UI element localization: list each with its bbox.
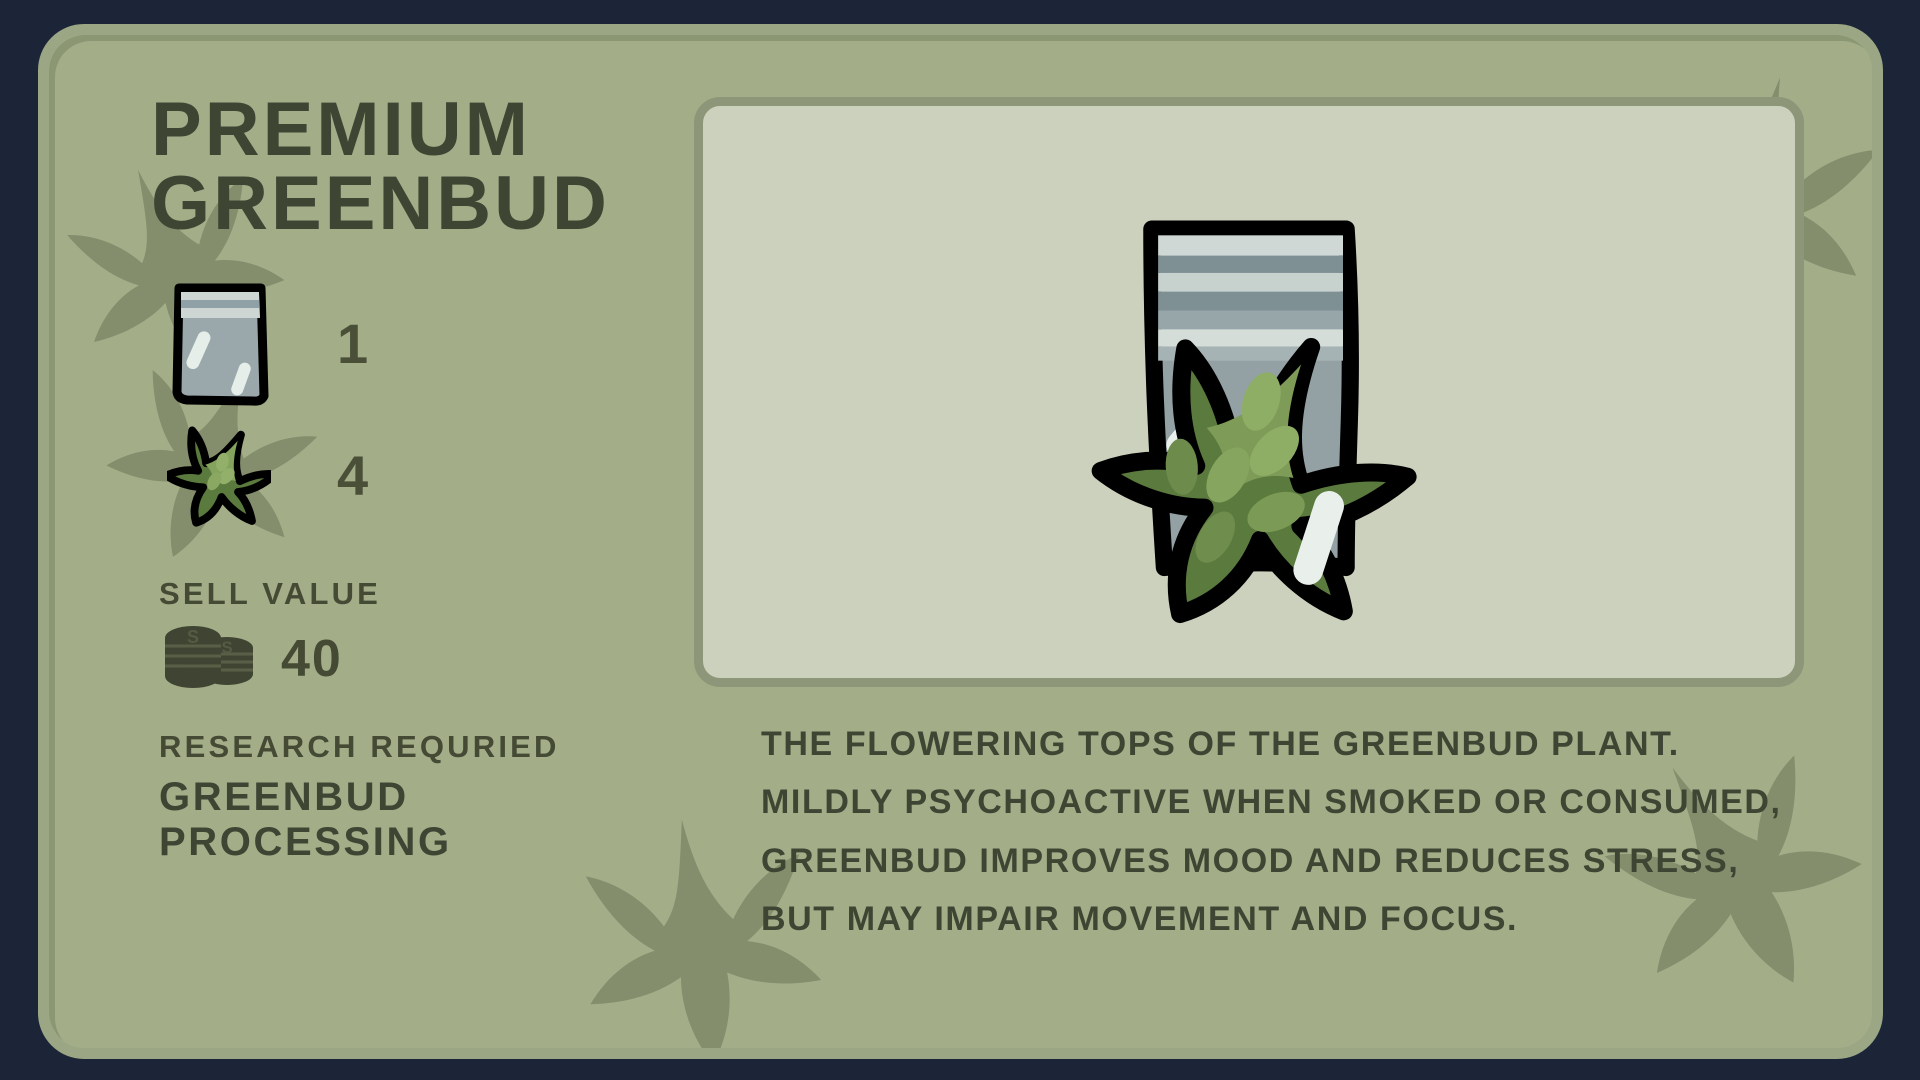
- quantity-list: 1 4: [159, 278, 711, 542]
- sell-value-label: SELL VALUE: [159, 576, 711, 612]
- sell-value-row: S S 40: [159, 620, 711, 699]
- coin-stack-icon: S S: [159, 620, 267, 699]
- svg-text:S: S: [221, 638, 232, 657]
- quantity-value: 4: [337, 443, 370, 508]
- sell-value-block: SELL VALUE S: [159, 576, 711, 699]
- item-description: THE FLOWERING TOPS OF THE GREENBUD PLANT…: [761, 715, 1883, 949]
- quantity-row-bud: 4: [159, 410, 711, 542]
- bud-icon: [159, 424, 279, 528]
- left-info-column: PREMIUM GREENBUD 1: [111, 83, 711, 1043]
- item-image-panel: [694, 97, 1804, 687]
- research-required-name: GREENBUD PROCESSING: [159, 775, 711, 865]
- baggie-icon: [159, 278, 279, 410]
- title-line-1: PREMIUM: [151, 87, 531, 172]
- baggie-with-bud-icon: [1014, 157, 1484, 627]
- research-required-label: RESEARCH REQURIED: [159, 729, 711, 765]
- page-title: PREMIUM GREENBUD: [151, 93, 711, 242]
- title-line-2: GREENBUD: [151, 167, 711, 241]
- description-line: GREENBUD IMPROVES MOOD AND REDUCES STRES…: [761, 832, 1883, 890]
- description-line: MILDLY PSYCHOACTIVE WHEN SMOKED OR CONSU…: [761, 773, 1883, 831]
- description-line: THE FLOWERING TOPS OF THE GREENBUD PLANT…: [761, 715, 1883, 773]
- research-block: RESEARCH REQURIED GREENBUD PROCESSING: [159, 729, 711, 865]
- sell-value-amount: 40: [281, 629, 343, 689]
- item-detail-screen: PREMIUM GREENBUD 1: [0, 0, 1920, 1080]
- item-card: PREMIUM GREENBUD 1: [38, 24, 1883, 1059]
- description-line: BUT MAY IMPAIR MOVEMENT AND FOCUS.: [761, 890, 1883, 948]
- quantity-row-baggie: 1: [159, 278, 711, 410]
- svg-text:S: S: [187, 627, 199, 647]
- quantity-value: 1: [337, 311, 370, 376]
